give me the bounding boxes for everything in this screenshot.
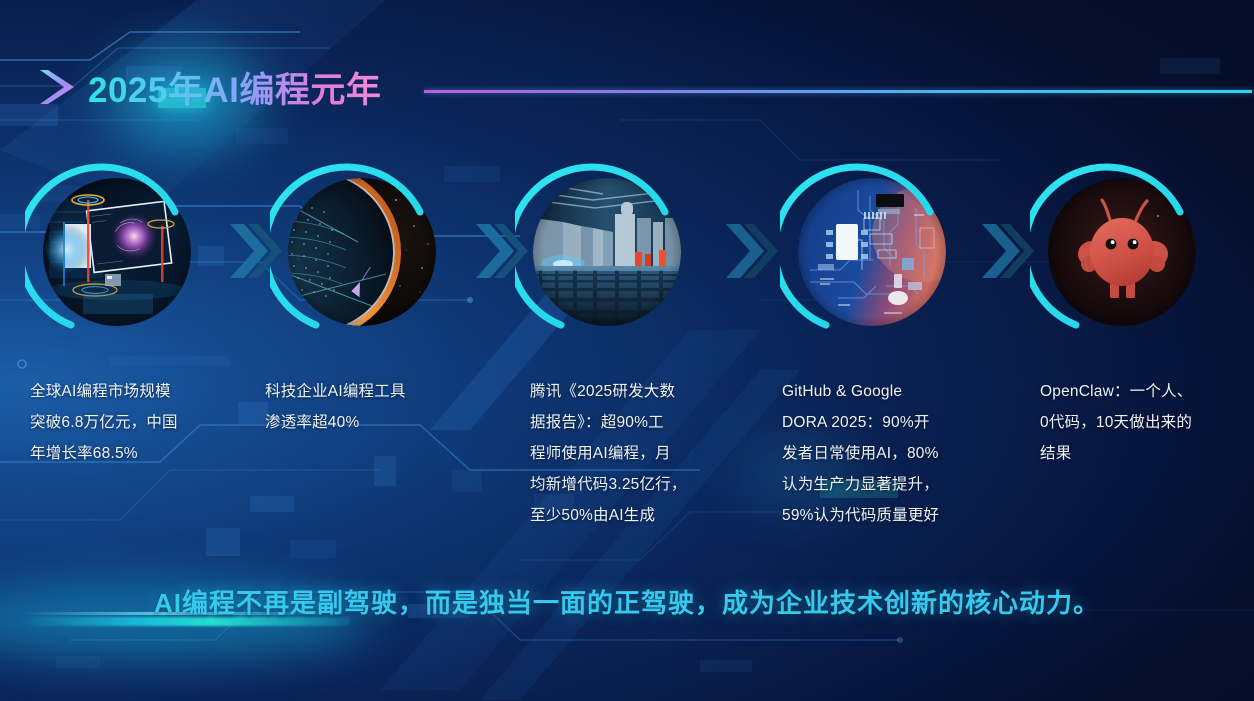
progress-ring <box>1030 160 1210 345</box>
caption-line: 59%认为代码质量更好 <box>782 500 1012 531</box>
step-node-5[interactable] <box>1030 160 1210 345</box>
caption-line: 结果 <box>1040 438 1240 469</box>
step-node-2[interactable] <box>270 160 450 345</box>
chip <box>452 470 482 492</box>
caption-line: 0代码，10天做出来的 <box>1040 407 1240 438</box>
progress-ring <box>515 160 695 345</box>
chip <box>250 496 294 512</box>
caption-line: 至少50%由AI生成 <box>530 500 755 531</box>
progress-ring <box>25 160 205 345</box>
double-chevron-right-icon <box>724 220 780 282</box>
step-node-3[interactable] <box>515 160 695 345</box>
progress-ring <box>270 160 450 345</box>
caption-line: 认为生产力显著提升， <box>782 469 1012 500</box>
chip <box>206 528 240 556</box>
caption-line: 科技企业AI编程工具 <box>265 376 495 407</box>
title-divider <box>424 90 1252 93</box>
slide-footer-statement: AI编程不再是副驾驶，而是独当一面的正驾驶，成为企业技术创新的核心动力。 <box>0 583 1254 620</box>
caption-line: 全球AI编程市场规模 <box>30 376 260 407</box>
caption-line: 发者日常使用AI，80% <box>782 438 1012 469</box>
chip <box>236 128 288 144</box>
caption-line: 腾讯《2025研发大数 <box>530 376 755 407</box>
caption-line: 均新增代码3.25亿行， <box>530 469 755 500</box>
chip <box>700 660 752 672</box>
step-caption-2: 科技企业AI编程工具 渗透率超40% <box>265 376 495 438</box>
double-chevron-right-icon <box>228 220 284 282</box>
caption-line: GitHub & Google <box>782 376 1012 407</box>
double-chevron-right-icon <box>474 220 530 282</box>
caption-line: 渗透率超40% <box>265 407 495 438</box>
caption-line: 年增长率68.5% <box>30 438 260 469</box>
progress-ring <box>780 160 960 345</box>
chip <box>374 456 396 486</box>
chip <box>56 656 100 668</box>
chip <box>290 540 336 558</box>
step-caption-4: GitHub & Google DORA 2025：90%开 发者日常使用AI，… <box>782 376 1012 531</box>
chip <box>110 356 230 366</box>
step-node-4[interactable] <box>780 160 960 345</box>
slide-root: 2025年AI编程元年 <box>0 0 1254 701</box>
page-title: 2025年AI编程元年 <box>88 62 381 113</box>
slide-header: 2025年AI编程元年 <box>0 30 1254 90</box>
step-caption-3: 腾讯《2025研发大数 据报告》：超90%工 程师使用AI编程，月 均新增代码3… <box>530 376 755 531</box>
step-caption-5: OpenClaw：一个人、 0代码，10天做出来的 结果 <box>1040 376 1240 469</box>
chip <box>0 104 58 126</box>
caption-line: 程师使用AI编程，月 <box>530 438 755 469</box>
step-caption-1: 全球AI编程市场规模 突破6.8万亿元，中国 年增长率68.5% <box>30 376 260 469</box>
process-steps <box>0 160 1254 345</box>
chevron-right-icon <box>36 68 78 106</box>
caption-line: 突破6.8万亿元，中国 <box>30 407 260 438</box>
double-chevron-right-icon <box>980 220 1036 282</box>
caption-line: DORA 2025：90%开 <box>782 407 1012 438</box>
step-node-1[interactable] <box>25 160 205 345</box>
caption-line: OpenClaw：一个人、 <box>1040 376 1240 407</box>
caption-line: 据报告》：超90%工 <box>530 407 755 438</box>
